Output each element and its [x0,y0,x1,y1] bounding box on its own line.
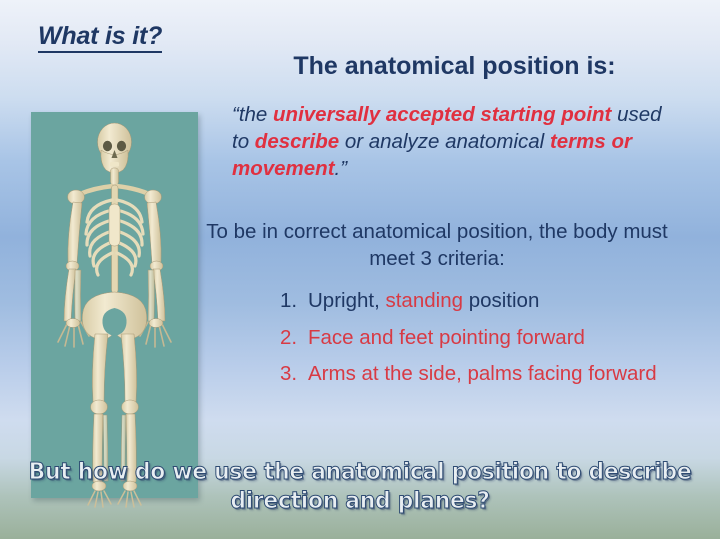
list-item-body: Face and feet pointing forward [308,325,700,352]
quote-segment-1: the [239,103,273,126]
list-item: 2. Face and feet pointing forward [280,325,700,352]
list-item-text-post: position [463,289,539,312]
list-item-body: Arms at the side, palms facing forward [308,361,700,388]
list-item: 3. Arms at the side, palms facing forwar… [280,361,700,388]
wordart-line-2: direction and planes? [18,487,702,516]
list-item-highlight: standing [385,289,463,312]
human-skeleton-icon [31,112,198,512]
closing-question-wordart: But how do we use the anatomical positio… [18,458,702,516]
definition-quote: “the universally accepted starting point… [232,101,662,182]
quote-open-mark: “ [232,103,239,126]
wordart-line-1: But how do we use the anatomical positio… [29,459,692,485]
skeleton-image-panel [31,112,198,498]
quote-highlight-1: universally accepted starting point [273,103,611,126]
main-heading: The anatomical position is: [202,52,707,81]
quote-close-mark: .” [335,157,348,180]
list-item-number: 1. [280,288,308,315]
list-item-text-pre: Upright, [308,289,385,312]
list-item-number: 3. [280,361,308,388]
criteria-list: 1. Upright, standing position 2. Face an… [280,288,700,398]
page-title: What is it? [38,22,162,53]
criteria-intro-text: To be in correct anatomical position, th… [202,218,672,273]
quote-segment-3: or analyze anatomical [339,130,550,153]
slide-canvas: What is it? [0,0,720,539]
quote-highlight-2: describe [255,130,339,153]
list-item: 1. Upright, standing position [280,288,700,315]
list-item-number: 2. [280,325,308,352]
list-item-body: Upright, standing position [308,288,700,315]
